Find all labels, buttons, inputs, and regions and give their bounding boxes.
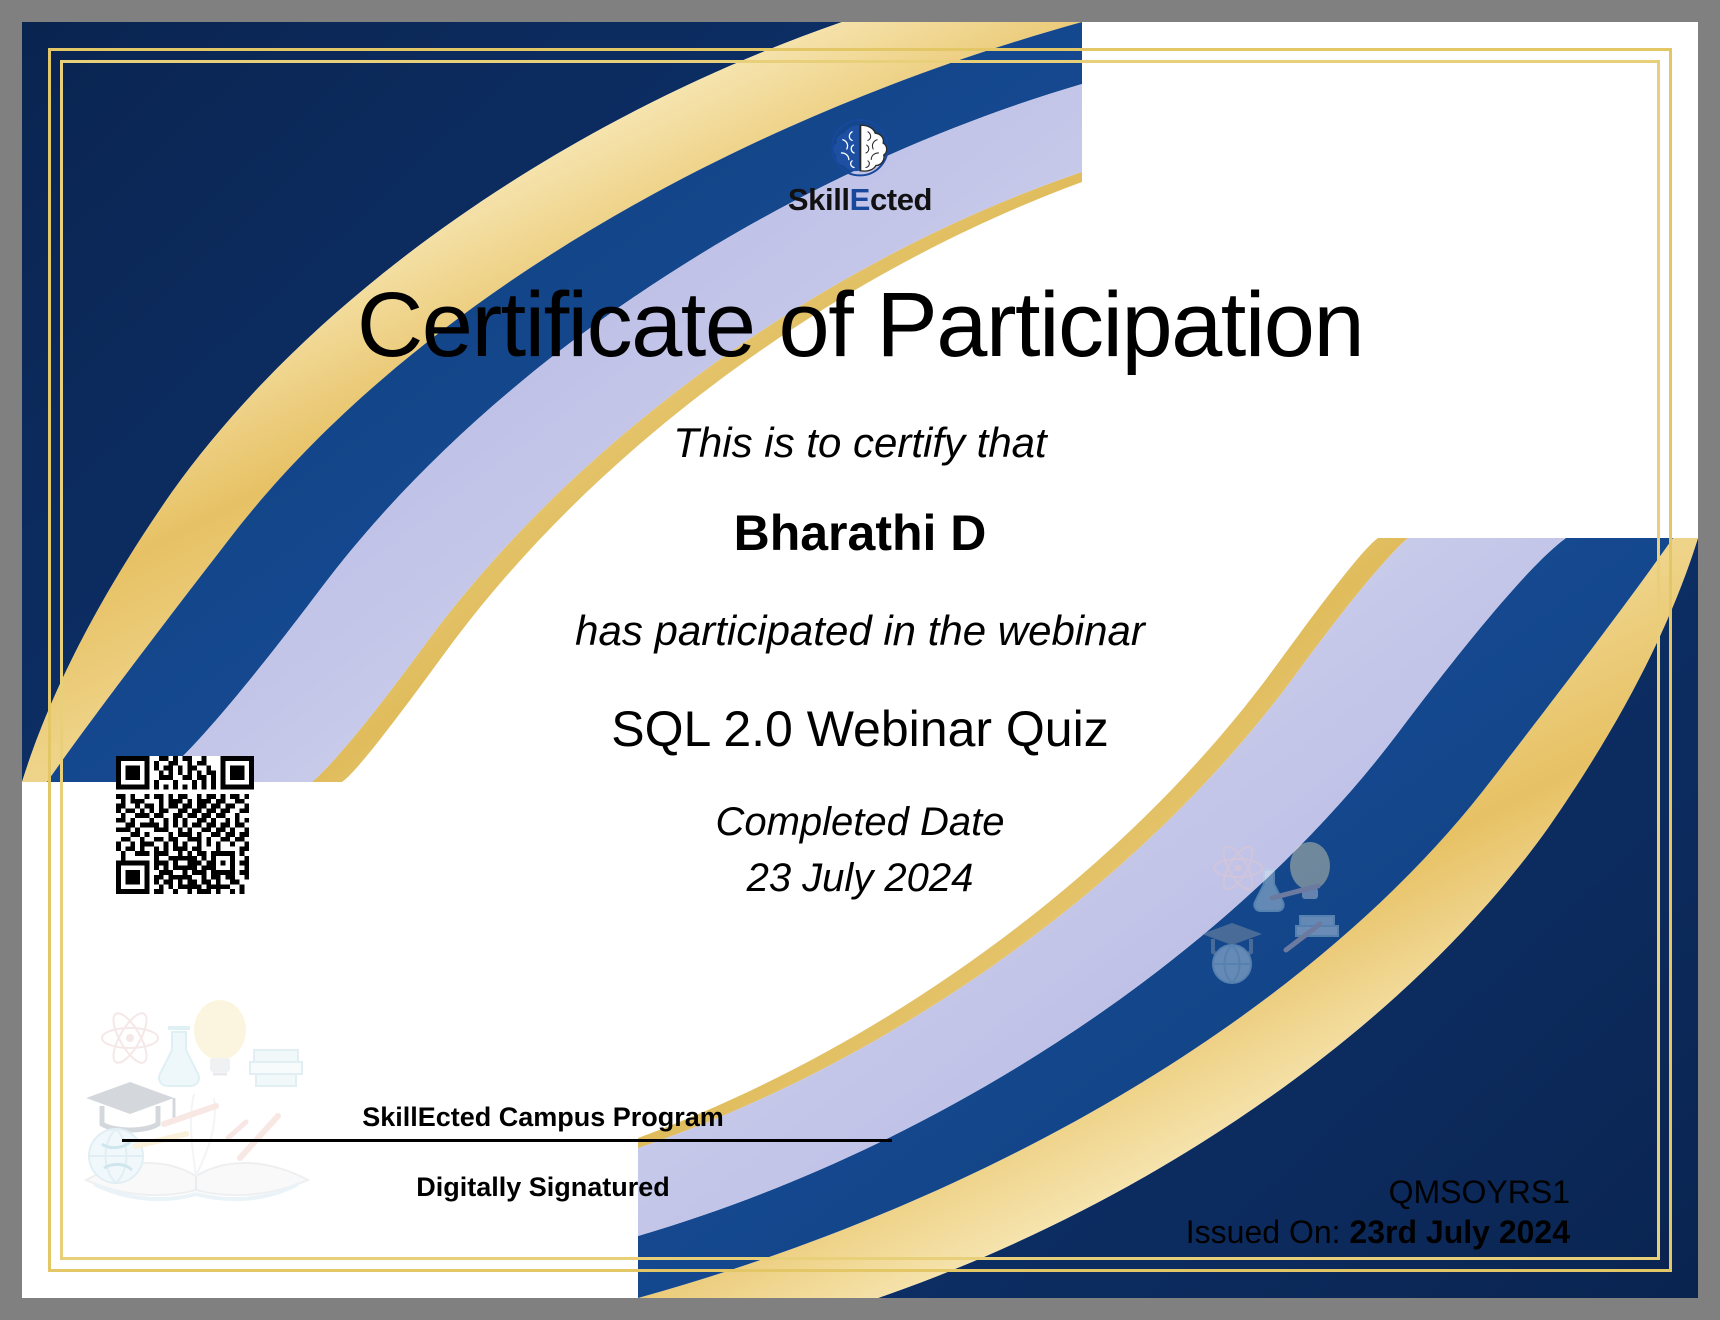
recipient-name: Bharathi D	[22, 504, 1698, 562]
brand-wordmark-prefix: Skill	[788, 182, 850, 217]
issued-on-row: Issued On: 23rd July 2024	[1186, 1212, 1570, 1252]
issued-on-date: 23rd July 2024	[1349, 1214, 1570, 1250]
signature-rule	[122, 1139, 892, 1142]
issuance-block: QMSOYRS1 Issued On: 23rd July 2024	[1186, 1172, 1570, 1252]
course-title: SQL 2.0 Webinar Quiz	[22, 700, 1698, 758]
brand-wordmark-suffix: cted	[870, 182, 932, 217]
qr-code-icon[interactable]	[116, 756, 254, 894]
signature-block: SkillEcted Campus Program Digitally Sign…	[122, 1102, 892, 1203]
page-title: Certificate of Participation	[22, 277, 1698, 374]
participation-line: has participated in the webinar	[22, 607, 1698, 655]
completed-date-label: Completed Date	[22, 800, 1698, 845]
brand-wordmark: SkillEcted	[788, 184, 932, 215]
certificate-page: SkillEcted Certificate of Participation …	[22, 22, 1698, 1298]
intro-line: This is to certify that	[22, 419, 1698, 467]
brand-logo: SkillEcted	[22, 116, 1698, 215]
issued-on-label: Issued On:	[1186, 1214, 1341, 1250]
brand-wordmark-highlight: E	[850, 182, 870, 217]
brain-icon	[827, 116, 893, 182]
signature-authority: SkillEcted Campus Program	[122, 1102, 892, 1133]
certificate-content: SkillEcted Certificate of Participation …	[22, 22, 1698, 1298]
certificate-id: QMSOYRS1	[1186, 1172, 1570, 1212]
completed-date-value: 23 July 2024	[22, 856, 1698, 901]
signature-caption: Digitally Signatured	[122, 1172, 892, 1203]
